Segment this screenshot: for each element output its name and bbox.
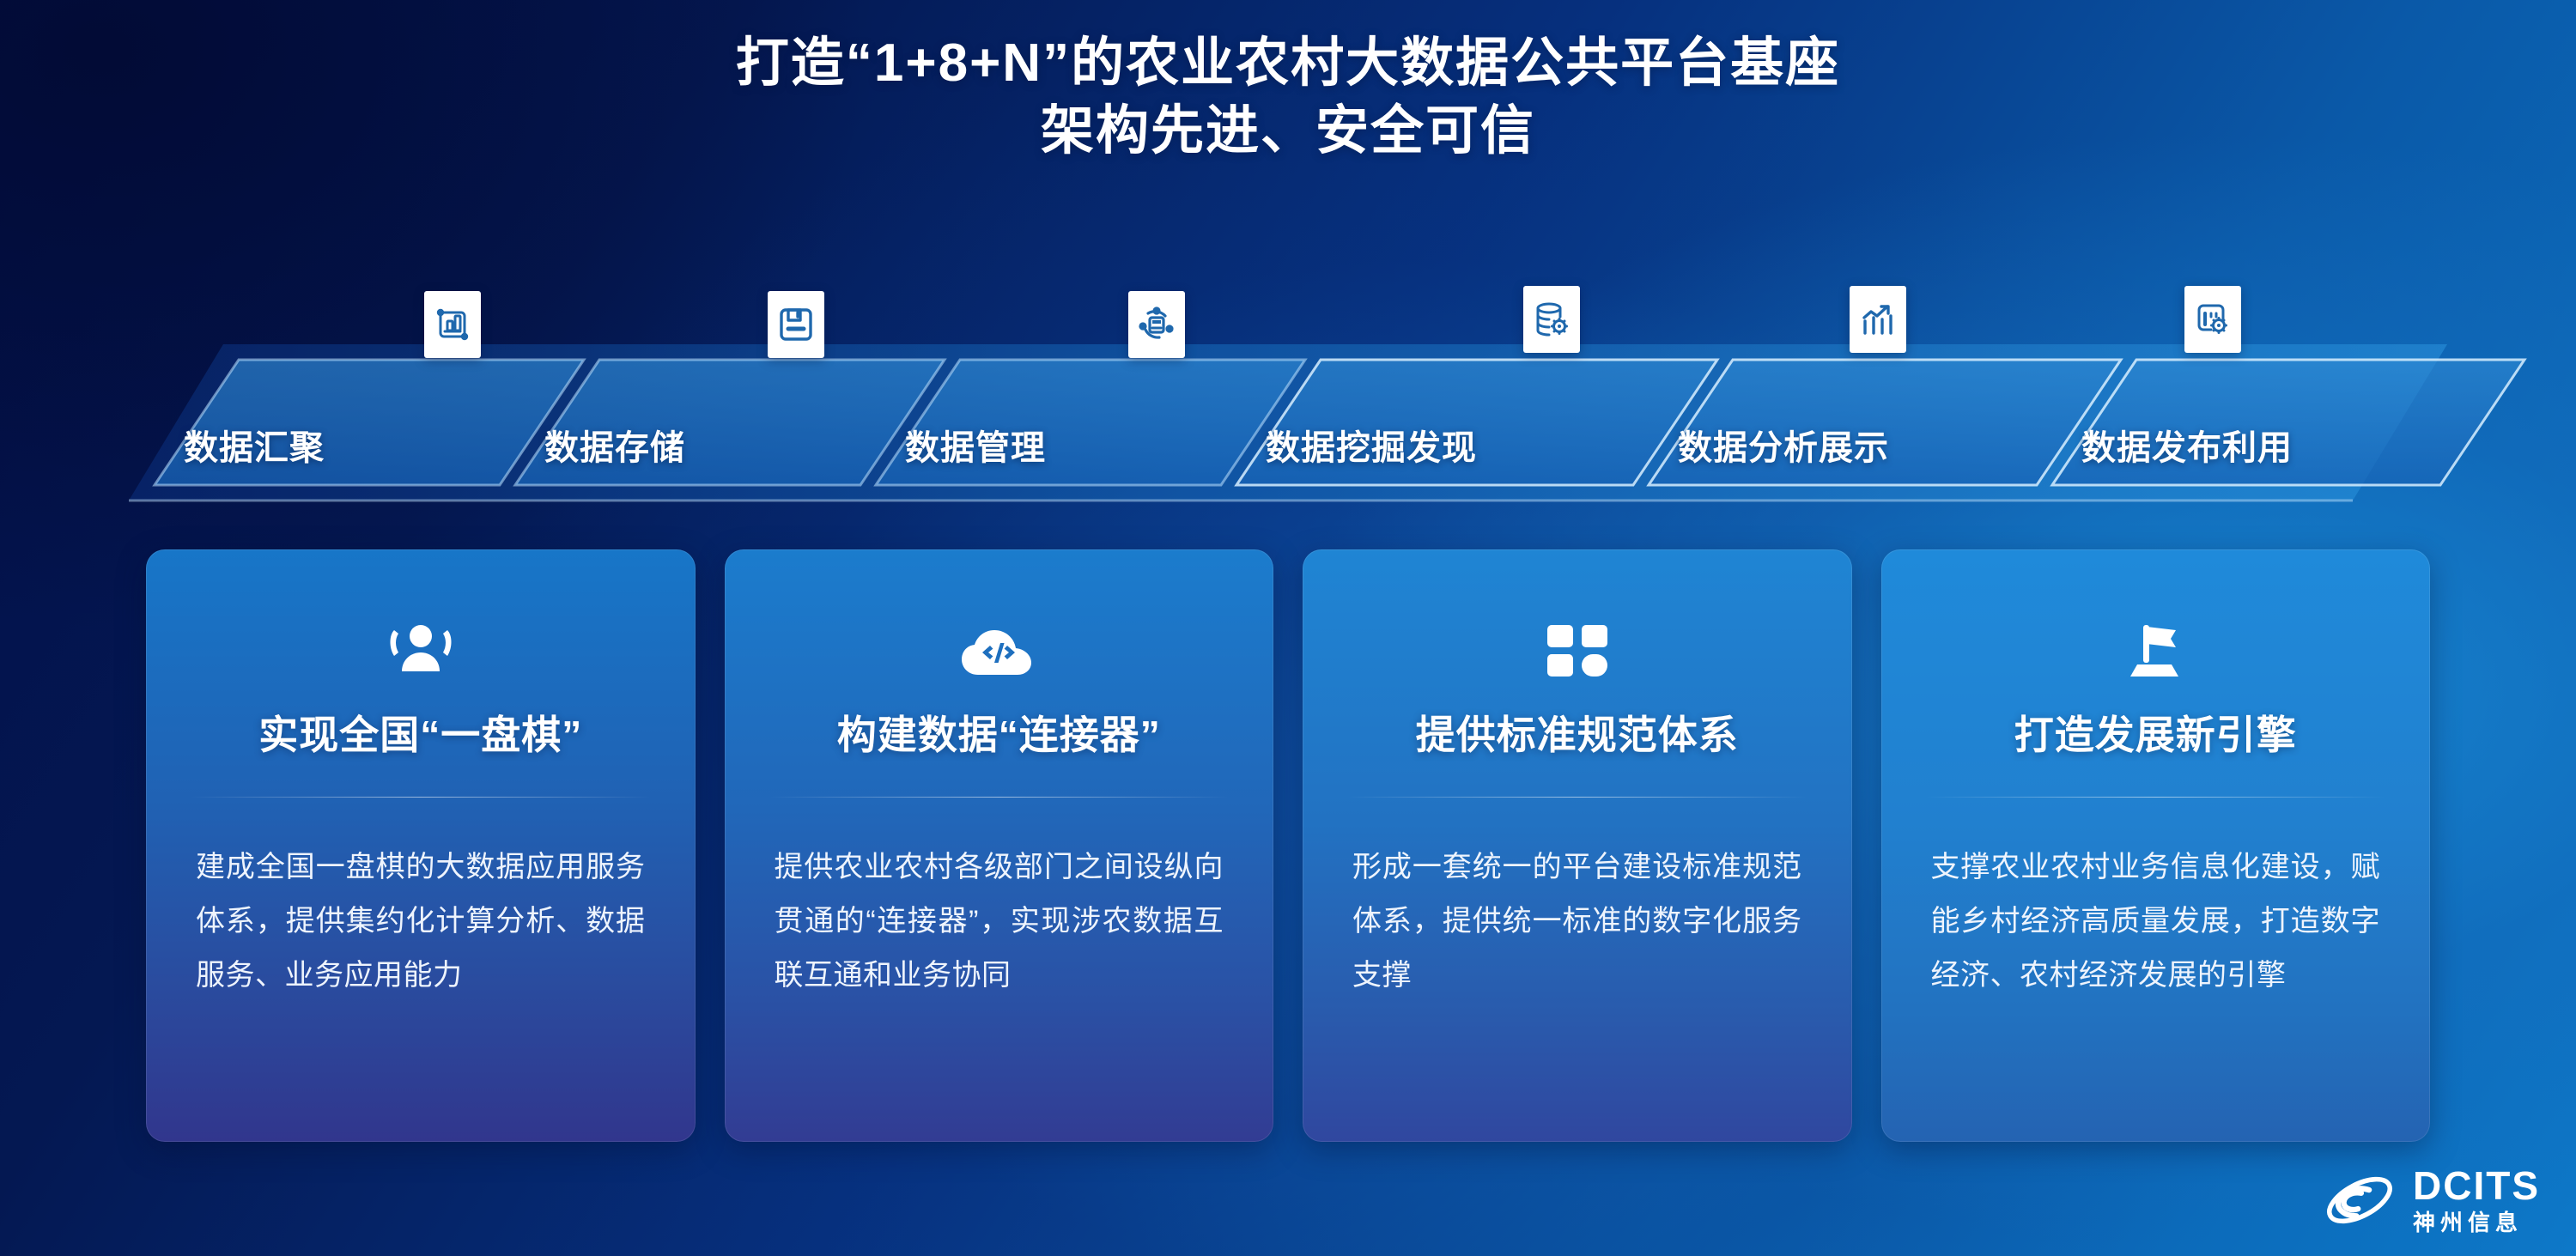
slide-root: 打造“1+8+N”的农业农村大数据公共平台基座 架构先进、安全可信 — [0, 0, 2576, 1256]
floppy-disk-icon — [768, 291, 824, 358]
card-title-4: 打造发展新引擎 — [1881, 704, 2431, 761]
page-title: 打造“1+8+N”的农业农村大数据公共平台基座 架构先进、安全可信 — [0, 29, 2576, 166]
flag-base-icon — [1881, 549, 2431, 682]
card-title-3: 提供标准规范体系 — [1303, 704, 1852, 761]
feature-card-list: 实现全国“一盘棋” 建成全国一盘棋的大数据应用服务体系，提供集约化计算分析、数据… — [146, 549, 2430, 1142]
card-title-2: 构建数据“连接器” — [725, 704, 1274, 761]
ribbon-label-3: 数据管理 — [905, 420, 1046, 470]
card-body-3: 形成一套统一的平台建设标准规范体系，提供统一标准的数字化服务支撑 — [1352, 840, 1802, 1003]
panel-gear-icon — [2184, 286, 2241, 353]
ribbon-label-4: 数据挖掘发现 — [1266, 420, 1477, 470]
brand-logo: DCITS 神州信息 — [2320, 1166, 2540, 1234]
feature-card-4[interactable]: 打造发展新引擎 支撑农业农村业务信息化建设，赋能乡村经济高质量发展，打造数字经济… — [1881, 549, 2431, 1142]
logo-en-text: DCITS — [2413, 1166, 2540, 1205]
trend-chart-icon — [1850, 286, 1906, 353]
ribbon-label-5: 数据分析展示 — [1678, 420, 1889, 470]
card-title-1: 实现全国“一盘棋” — [146, 704, 696, 761]
feature-card-3[interactable]: 提供标准规范体系 形成一套统一的平台建设标准规范体系，提供统一标准的数字化服务支… — [1303, 549, 1852, 1142]
card-divider-3 — [1347, 797, 1807, 798]
feature-card-1[interactable]: 实现全国“一盘棋” 建成全国一盘棋的大数据应用服务体系，提供集约化计算分析、数据… — [146, 549, 696, 1142]
card-body-1: 建成全国一盘棋的大数据应用服务体系，提供集约化计算分析、数据服务、业务应用能力 — [196, 840, 646, 1003]
people-group-icon — [146, 549, 696, 682]
process-ribbon: 数据汇聚 数据存储 数据管理 数据挖掘发现 数据分析展示 数据发布利用 — [129, 329, 2447, 509]
card-divider-2 — [769, 797, 1230, 798]
ribbon-label-6: 数据发布利用 — [2081, 420, 2293, 470]
feature-card-2[interactable]: 构建数据“连接器” 提供农业农村各级部门之间设纵向贯通的“连接器”，实现涉农数据… — [725, 549, 1274, 1142]
card-divider-1 — [191, 797, 651, 798]
cloud-code-glyph — [957, 622, 1040, 682]
ribbon-label-2: 数据存储 — [544, 420, 685, 470]
logo-text-block: DCITS 神州信息 — [2413, 1166, 2540, 1234]
title-line-2: 架构先进、安全可信 — [0, 97, 2576, 165]
server-network-icon — [1128, 291, 1185, 358]
ribbon-label-1: 数据汇聚 — [184, 420, 325, 470]
card-body-2: 提供农业农村各级部门之间设纵向贯通的“连接器”，实现涉农数据互联互通和业务协同 — [775, 840, 1224, 1003]
people-group-glyph — [383, 618, 459, 682]
card-body-4: 支撑农业农村业务信息化建设，赋能乡村经济高质量发展，打造数字经济、农村经济发展的… — [1931, 840, 2381, 1003]
logo-cn-text: 神州信息 — [2413, 1211, 2540, 1234]
four-squares-icon — [1303, 549, 1852, 682]
dcits-swirl-icon — [2320, 1168, 2399, 1232]
title-line-1: 打造“1+8+N”的农业农村大数据公共平台基座 — [0, 29, 2576, 97]
card-divider-4 — [1926, 797, 2386, 798]
four-squares-glyph — [1544, 622, 1611, 682]
flag-base-glyph — [2118, 620, 2192, 682]
database-gear-icon — [1523, 286, 1580, 353]
cloud-code-icon — [725, 549, 1274, 682]
bar-chart-nodes-icon — [424, 291, 481, 358]
